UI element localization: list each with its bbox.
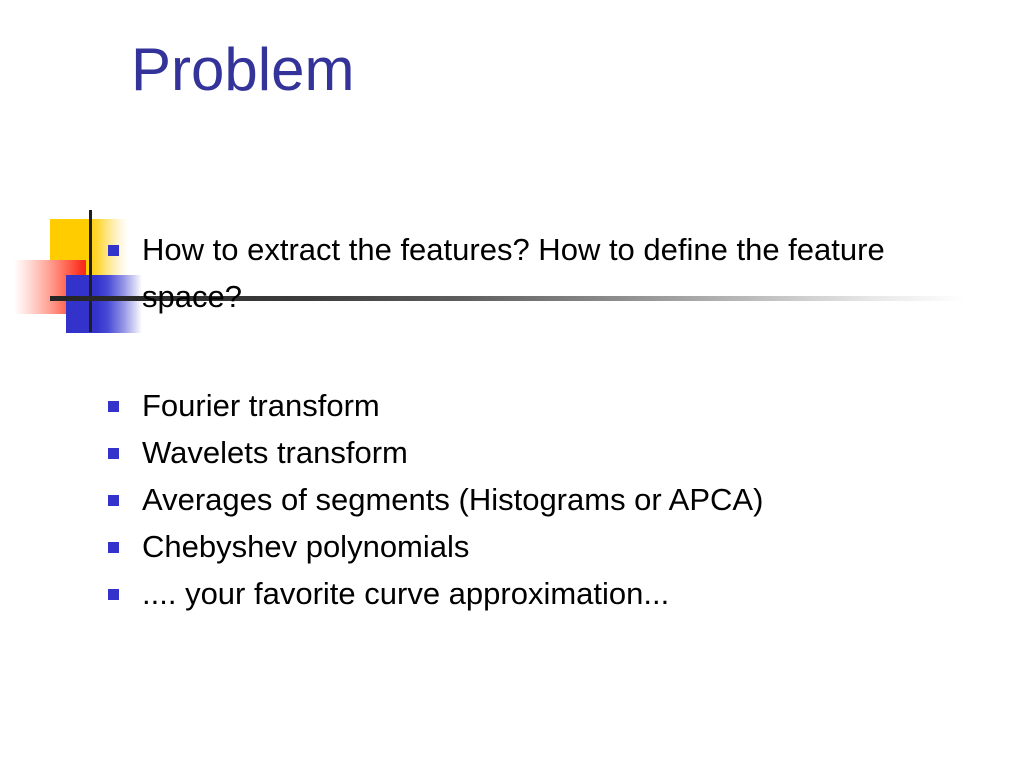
decoration-vertical-rule (89, 210, 92, 332)
bullet-square-icon (108, 589, 119, 600)
page-title: Problem (131, 36, 354, 104)
decoration-red-square (14, 260, 86, 314)
list-item: Fourier transform (108, 382, 1008, 429)
list-item-label: Chebyshev polynomials (142, 523, 972, 570)
bullet-square-icon (108, 495, 119, 506)
presentation-slide: Problem How to extract the features? How… (0, 0, 1024, 768)
list-item-label: .... your favorite curve approximation..… (142, 570, 972, 617)
list-item: Chebyshev polynomials (108, 523, 1008, 570)
list-item: Averages of segments (Histograms or APCA… (108, 476, 1008, 523)
list-item-label: Fourier transform (142, 382, 972, 429)
list-item: How to extract the features? How to defi… (108, 226, 1008, 320)
bullet-square-icon (108, 401, 119, 412)
bullet-list-spacer (108, 320, 1008, 382)
list-item: Wavelets transform (108, 429, 1008, 476)
bullet-list: How to extract the features? How to defi… (108, 226, 1008, 617)
list-item: .... your favorite curve approximation..… (108, 570, 1008, 617)
list-item-label: How to extract the features? How to defi… (142, 226, 972, 320)
bullet-square-icon (108, 448, 119, 459)
bullet-square-icon (108, 245, 119, 256)
list-item-label: Averages of segments (Histograms or APCA… (142, 476, 972, 523)
list-item-label: Wavelets transform (142, 429, 972, 476)
bullet-square-icon (108, 542, 119, 553)
